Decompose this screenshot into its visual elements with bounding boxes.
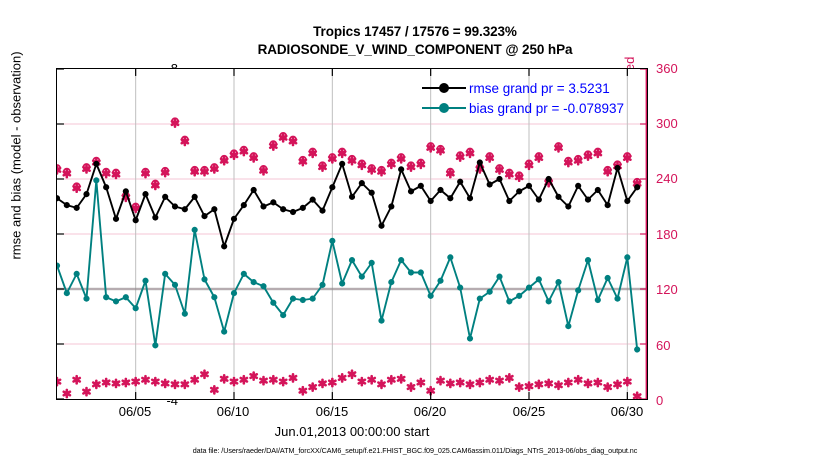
series-datapoint	[546, 298, 552, 304]
marker-assimilated	[182, 381, 188, 388]
marker-assimilated	[300, 158, 306, 165]
marker-assimilated	[339, 374, 345, 381]
series-datapoint	[575, 287, 581, 293]
series-datapoint	[595, 297, 601, 303]
marker-assimilated	[634, 393, 640, 399]
series-datapoint	[349, 257, 355, 263]
legend-marker-rmse	[422, 81, 466, 95]
marker-assimilated	[437, 377, 443, 384]
marker-assimilated	[359, 162, 365, 169]
series-datapoint	[310, 197, 316, 203]
marker-assimilated	[152, 182, 158, 189]
marker-assimilated	[142, 376, 148, 383]
series-datapoint	[487, 181, 493, 187]
xtick-0620: 06/20	[395, 404, 465, 419]
marker-assimilated	[398, 375, 404, 382]
series-datapoint	[565, 323, 571, 329]
marker-assimilated	[496, 377, 502, 384]
marker-assimilated	[447, 170, 453, 177]
ytick-right-0: 0	[656, 393, 700, 408]
series-datapoint	[614, 165, 620, 171]
marker-assimilated	[595, 379, 601, 386]
series-datapoint	[536, 276, 542, 282]
series-datapoint	[388, 203, 394, 209]
series-datapoint	[329, 238, 335, 244]
series-datapoint	[280, 312, 286, 318]
marker-assimilated	[172, 120, 178, 127]
marker-assimilated	[280, 134, 286, 141]
series-datapoint	[428, 198, 434, 204]
series-datapoint	[457, 179, 463, 185]
marker-assimilated	[487, 376, 493, 383]
marker-assimilated	[585, 153, 591, 160]
xtick-0625: 06/25	[494, 404, 564, 419]
xtick-0610: 06/10	[198, 404, 268, 419]
marker-assimilated	[231, 378, 237, 385]
marker-assimilated	[182, 138, 188, 145]
series-datapoint	[624, 198, 630, 204]
series-datapoint	[447, 195, 453, 201]
marker-assimilated	[251, 373, 257, 380]
marker-assimilated	[290, 138, 296, 145]
series-datapoint	[211, 294, 217, 300]
series-datapoint	[437, 187, 443, 193]
series-datapoint	[359, 180, 365, 186]
marker-assimilated	[487, 154, 493, 161]
marker-assimilated	[83, 388, 89, 395]
series-datapoint	[133, 305, 139, 311]
marker-assimilated	[437, 147, 443, 154]
series-datapoint	[428, 293, 434, 299]
xtick-0630: 06/30	[592, 404, 662, 419]
series-datapoint	[270, 300, 276, 306]
series-datapoint	[290, 296, 296, 302]
marker-assimilated	[605, 168, 611, 175]
series-datapoint	[634, 346, 640, 352]
series-datapoint	[339, 161, 345, 167]
marker-assimilated	[280, 378, 286, 385]
series-datapoint	[93, 161, 99, 167]
series-datapoint	[152, 214, 158, 220]
marker-assimilated	[378, 168, 384, 175]
marker-assimilated	[319, 380, 325, 387]
xtick-0615: 06/15	[297, 404, 367, 419]
series-datapoint	[329, 184, 335, 190]
marker-assimilated	[565, 379, 571, 386]
marker-assimilated	[211, 165, 217, 172]
series-datapoint	[526, 285, 532, 291]
marker-assimilated	[536, 154, 542, 161]
series-datapoint	[506, 298, 512, 304]
series-datapoint	[57, 263, 60, 269]
marker-assimilated	[457, 379, 463, 386]
marker-assimilated	[113, 171, 119, 178]
series-datapoint	[516, 293, 522, 299]
series-datapoint	[142, 278, 148, 284]
marker-assimilated	[565, 159, 571, 166]
series-datapoint	[369, 190, 375, 196]
series-datapoint	[162, 194, 168, 200]
marker-assimilated	[290, 374, 296, 381]
ytick-right-360: 360	[656, 61, 700, 76]
marker-assimilated	[457, 153, 463, 160]
marker-assimilated	[575, 157, 581, 164]
series-datapoint	[260, 203, 266, 209]
series-datapoint	[280, 206, 286, 212]
marker-assimilated	[123, 379, 129, 386]
marker-assimilated	[408, 164, 414, 171]
series-datapoint	[634, 184, 640, 190]
x-axis-label: Jun.01,2013 00:00:00 start	[56, 424, 648, 439]
series-datapoint	[605, 275, 611, 281]
marker-assimilated	[201, 371, 207, 378]
series-datapoint	[83, 191, 89, 197]
marker-assimilated	[221, 157, 227, 164]
marker-assimilated	[241, 148, 247, 155]
series-datapoint	[555, 279, 561, 285]
series-datapoint	[477, 296, 483, 302]
marker-assimilated	[310, 150, 316, 157]
marker-assimilated	[526, 162, 532, 169]
series-datapoint	[467, 195, 473, 201]
marker-assimilated	[270, 142, 276, 149]
marker-assimilated	[369, 166, 375, 173]
series-datapoint	[408, 269, 414, 275]
marker-assimilated	[93, 381, 99, 388]
series-datapoint	[408, 188, 414, 194]
marker-assimilated	[546, 380, 552, 387]
marker-assimilated	[231, 152, 237, 159]
series-datapoint	[64, 290, 70, 296]
marker-assimilated	[270, 376, 276, 383]
series-datapoint	[487, 289, 493, 295]
marker-assimilated	[142, 170, 148, 177]
marker-assimilated	[516, 174, 522, 181]
marker-assimilated	[241, 376, 247, 383]
line-series	[57, 177, 640, 352]
ytick-right-60: 60	[656, 338, 700, 353]
marker-assimilated	[585, 380, 591, 387]
series-datapoint	[162, 271, 168, 277]
series-datapoint	[496, 274, 502, 280]
series-datapoint	[516, 188, 522, 194]
marker-assimilated	[467, 150, 473, 157]
series-datapoint	[467, 335, 473, 341]
marker-assimilated	[251, 154, 257, 161]
series-datapoint	[113, 216, 119, 222]
ytick-right-300: 300	[656, 116, 700, 131]
series-datapoint	[192, 227, 198, 233]
series-datapoint	[398, 257, 404, 263]
series-datapoint	[231, 290, 237, 296]
series-datapoint	[457, 285, 463, 291]
series-datapoint	[418, 183, 424, 189]
series-datapoint	[339, 280, 345, 286]
marker-assimilated	[83, 165, 89, 172]
series-datapoint	[201, 213, 207, 219]
series-datapoint	[123, 188, 129, 194]
ytick-right-180: 180	[656, 227, 700, 242]
marker-assimilated	[74, 185, 80, 192]
marker-assimilated	[329, 155, 335, 162]
series-datapoint	[526, 183, 532, 189]
series-datapoint	[378, 318, 384, 324]
datafile-path: data file: /Users/raeder/DAI/ATM_forcXX/…	[0, 446, 830, 455]
series-datapoint	[418, 269, 424, 275]
series-datapoint	[300, 205, 306, 211]
series-datapoint	[270, 199, 276, 205]
series-datapoint	[359, 274, 365, 280]
marker-assimilated	[359, 378, 365, 385]
series-datapoint	[133, 217, 139, 223]
marker-assimilated	[162, 169, 168, 176]
series-datapoint	[83, 296, 89, 302]
marker-assimilated	[388, 161, 394, 168]
marker-assimilated	[447, 380, 453, 387]
marker-assimilated	[103, 170, 109, 177]
series-datapoint	[349, 194, 355, 200]
series-datapoint	[614, 296, 620, 302]
marker-assimilated	[211, 386, 217, 393]
series-datapoint	[437, 278, 443, 284]
series-datapoint	[103, 184, 109, 190]
marker-assimilated	[555, 144, 561, 151]
series-datapoint	[172, 282, 178, 288]
series-datapoint	[369, 260, 375, 266]
series-datapoint	[64, 202, 70, 208]
marker-assimilated	[418, 161, 424, 168]
series-datapoint	[310, 296, 316, 302]
series-datapoint	[378, 223, 384, 229]
marker-assimilated	[428, 144, 434, 151]
marker-assimilated	[506, 171, 512, 178]
series-datapoint	[290, 209, 296, 215]
marker-assimilated	[467, 381, 473, 388]
legend-entry-rmse[interactable]: rmse grand pr = 3.5231	[422, 78, 624, 98]
marker-assimilated	[349, 157, 355, 164]
series-datapoint	[74, 271, 80, 277]
series-datapoint	[260, 283, 266, 289]
series-datapoint	[319, 208, 325, 214]
scatter-series-*	[57, 371, 640, 399]
marker-assimilated	[221, 375, 227, 382]
series-datapoint	[113, 298, 119, 304]
series-datapoint	[575, 183, 581, 189]
marker-assimilated	[605, 384, 611, 391]
marker-assimilated	[388, 376, 394, 383]
marker-assimilated	[339, 150, 345, 157]
marker-assimilated	[398, 155, 404, 162]
marker-assimilated	[113, 380, 119, 387]
series-datapoint	[211, 206, 217, 212]
series-datapoint	[536, 197, 542, 203]
series-datapoint	[123, 294, 129, 300]
marker-assimilated	[555, 382, 561, 389]
marker-assimilated	[64, 390, 70, 397]
marker-assimilated	[192, 168, 198, 175]
marker-assimilated	[624, 378, 630, 385]
marker-assimilated	[614, 381, 620, 388]
marker-assimilated	[418, 379, 424, 386]
series-datapoint	[319, 282, 325, 288]
series-datapoint	[221, 329, 227, 335]
series-datapoint	[546, 176, 552, 182]
marker-assimilated	[516, 384, 522, 391]
marker-assimilated	[595, 150, 601, 157]
page-subtitle: RADIOSONDE_V_WIND_COMPONENT @ 250 hPa	[0, 42, 830, 57]
series-datapoint	[93, 177, 99, 183]
marker-assimilated	[319, 164, 325, 171]
series-datapoint	[231, 216, 237, 222]
series-datapoint	[251, 279, 257, 285]
series-datapoint	[585, 257, 591, 263]
series-datapoint	[74, 205, 80, 211]
series-datapoint	[595, 187, 601, 193]
series-datapoint	[565, 203, 571, 209]
marker-assimilated	[329, 379, 335, 386]
series-datapoint	[388, 279, 394, 285]
marker-assimilated	[369, 376, 375, 383]
legend-entry-bias[interactable]: bias grand pr = -0.078937	[422, 98, 624, 118]
marker-assimilated	[477, 379, 483, 386]
figure-root: Tropics 17457 / 17576 = 99.323% RADIOSON…	[0, 0, 830, 470]
marker-assimilated	[300, 387, 306, 394]
marker-assimilated	[378, 381, 384, 388]
marker-assimilated	[506, 374, 512, 381]
marker-assimilated	[192, 376, 198, 383]
series-datapoint	[201, 276, 207, 282]
series-datapoint	[447, 254, 453, 260]
marker-assimilated	[133, 205, 139, 212]
marker-assimilated	[408, 384, 414, 391]
series-datapoint	[103, 294, 109, 300]
marker-assimilated	[172, 381, 178, 388]
marker-assimilated	[201, 168, 207, 175]
series-datapoint	[555, 194, 561, 200]
page-title: Tropics 17457 / 17576 = 99.323%	[0, 24, 830, 39]
marker-assimilated	[496, 166, 502, 173]
series-datapoint	[506, 198, 512, 204]
marker-assimilated	[536, 381, 542, 388]
ytick-right-240: 240	[656, 171, 700, 186]
marker-assimilated	[310, 384, 316, 391]
legend: rmse grand pr = 3.5231 bias grand pr = -…	[420, 76, 628, 120]
series-datapoint	[300, 297, 306, 303]
marker-assimilated	[64, 170, 70, 177]
marker-assimilated	[103, 379, 109, 386]
series-datapoint	[251, 187, 257, 193]
y-axis-label-left: rmse and bias (model - observation)	[9, 0, 24, 391]
marker-assimilated	[526, 383, 532, 390]
legend-label-bias: bias grand pr = -0.078937	[469, 101, 624, 116]
marker-assimilated	[260, 167, 266, 174]
ytick-right-120: 120	[656, 282, 700, 297]
series-datapoint	[241, 202, 247, 208]
marker-assimilated	[57, 378, 60, 385]
marker-assimilated	[74, 376, 80, 383]
series-datapoint	[182, 206, 188, 212]
marker-assimilated	[162, 380, 168, 387]
series-datapoint	[496, 176, 502, 182]
marker-assimilated	[260, 377, 266, 384]
series-datapoint	[585, 197, 591, 203]
series-datapoint	[182, 311, 188, 317]
series-datapoint	[172, 203, 178, 209]
series-datapoint	[192, 194, 198, 200]
series-datapoint	[241, 271, 247, 277]
legend-label-rmse: rmse grand pr = 3.5231	[469, 81, 610, 96]
series-datapoint	[152, 342, 158, 348]
series-datapoint	[477, 159, 483, 165]
legend-marker-bias	[422, 101, 466, 115]
series-datapoint	[221, 243, 227, 249]
series-datapoint	[398, 166, 404, 172]
series-datapoint	[605, 202, 611, 208]
xtick-0605: 06/05	[100, 404, 170, 419]
marker-assimilated	[624, 154, 630, 161]
series-datapoint	[142, 191, 148, 197]
marker-assimilated	[575, 376, 581, 383]
marker-assimilated	[133, 378, 139, 385]
series-datapoint	[624, 254, 630, 260]
marker-assimilated	[152, 378, 158, 385]
series-polyline	[57, 180, 637, 349]
marker-assimilated	[349, 371, 355, 378]
